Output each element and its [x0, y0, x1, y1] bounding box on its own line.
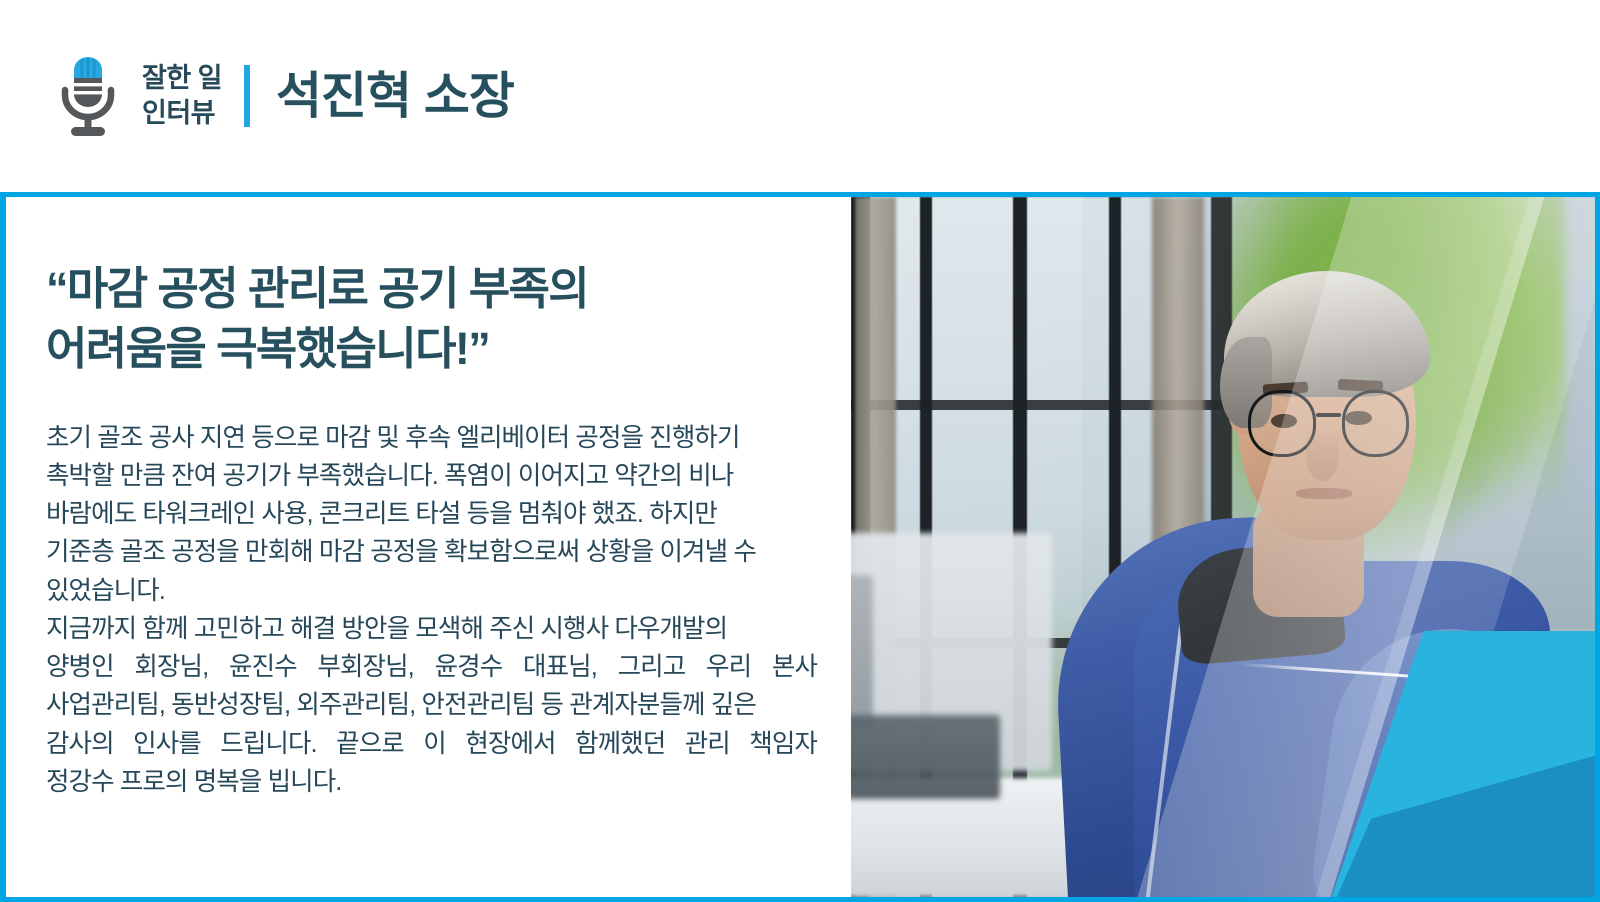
header-inner: 잘한 일 인터뷰 석진혁 소장: [0, 50, 514, 142]
body-line: 있었습니다.: [46, 572, 817, 610]
page-header: 잘한 일 인터뷰 석진혁 소장: [0, 0, 1600, 192]
interview-photo: [851, 197, 1595, 897]
kicker-line-2: 인터뷰: [142, 96, 222, 131]
body-line: 양병인 회장님, 윤진수 부회장님, 윤경수 대표님, 그리고 우리 본사: [46, 648, 817, 686]
kicker-line-1: 잘한 일: [142, 61, 222, 96]
person-mouth: [1296, 488, 1353, 499]
interview-text-pane: “마감 공정 관리로 공기 부족의 어려움을 극복했습니다!” 초기 골조 공사…: [6, 197, 851, 897]
wristwatch-face: [1471, 810, 1514, 854]
page-title: 석진혁 소장: [276, 71, 514, 121]
body-line: 촉박할 만큼 잔여 공기가 부족했습니다. 폭염이 이어지고 약간의 비나: [46, 457, 817, 495]
glasses-lens: [1342, 390, 1409, 457]
person-nose: [1306, 428, 1339, 481]
body-line: 지금까지 함께 고민하고 해결 방안을 모색해 주신 시행사 다우개발의: [46, 610, 817, 648]
interview-card: “마감 공정 관리로 공기 부족의 어려움을 극복했습니다!” 초기 골조 공사…: [0, 192, 1600, 902]
kicker-block: 잘한 일 인터뷰: [142, 61, 222, 130]
body-line: 정강수 프로의 명복을 빕니다.: [46, 763, 817, 801]
body-line: 바람에도 타워크레인 사용, 콘크리트 타설 등을 멈춰야 했죠. 하지만: [46, 495, 817, 533]
pull-quote-line-1: “마감 공정 관리로 공기 부족의: [46, 259, 817, 319]
photo-person: [851, 197, 1595, 897]
header-divider: [244, 65, 250, 127]
body-paragraph-2: 지금까지 함께 고민하고 해결 방안을 모색해 주신 시행사 다우개발의 양병인…: [46, 610, 817, 801]
body-line: 기준층 골조 공정을 만회해 마감 공정을 확보함으로써 상황을 이겨낼 수: [46, 533, 817, 571]
interview-page: 잘한 일 인터뷰 석진혁 소장 “마감 공정 관리로 공기 부족의 어려움을 극…: [0, 0, 1600, 902]
body-line: 초기 골조 공사 지연 등으로 마감 및 후속 엘리베이터 공정을 진행하기: [46, 419, 817, 457]
glasses-bridge: [1316, 413, 1342, 417]
body-line: 사업관리팀, 동반성장팀, 외주관리팀, 안전관리팀 등 관계자분들께 깊은: [46, 686, 817, 724]
pull-quote: “마감 공정 관리로 공기 부족의 어려움을 극복했습니다!”: [46, 259, 817, 379]
interview-body: 초기 골조 공사 지연 등으로 마감 및 후속 엘리베이터 공정을 진행하기 촉…: [46, 419, 817, 802]
microphone-icon: [52, 50, 124, 142]
body-line: 감사의 인사를 드립니다. 끝으로 이 현장에서 함께했던 관리 책임자: [46, 725, 817, 763]
pull-quote-line-2: 어려움을 극복했습니다!”: [46, 319, 817, 379]
body-paragraph-1: 초기 골조 공사 지연 등으로 마감 및 후속 엘리베이터 공정을 진행하기 촉…: [46, 419, 817, 610]
